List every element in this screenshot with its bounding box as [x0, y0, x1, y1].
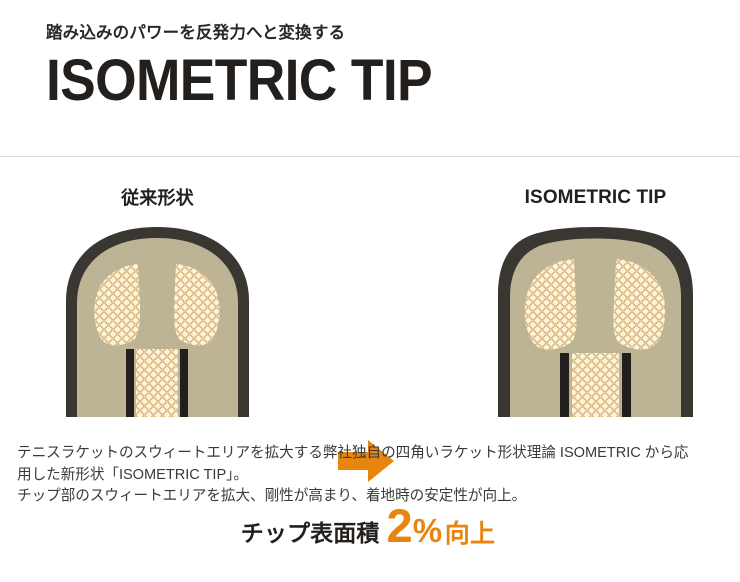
isometric-tip-outsole-illustration — [488, 217, 703, 422]
gain-label: チップ表面積 — [241, 514, 380, 548]
figure-isometric-tip: ISOMETRIC TIP — [488, 185, 703, 422]
page-title: ISOMETRIC TIP — [46, 50, 432, 112]
figure-isometric-tip-label: ISOMETRIC TIP — [488, 185, 703, 211]
comparison-figure-band: 従来形状 — [0, 157, 740, 425]
header-subtitle: 踏み込みのパワーを反発力へと変換する — [46, 19, 345, 43]
gain-suffix: 向上 — [445, 514, 496, 550]
gain-percent-sign: % — [413, 512, 442, 550]
description-line-1: テニスラケットのスウィートエリアを拡大する弊社独自の四角いラケット形状理論 IS… — [17, 443, 729, 465]
gain-statement: チップ表面積 2 % 向上 — [232, 502, 504, 550]
gain-number: 2 — [386, 502, 411, 549]
description-line-3: チップ部のスウィートエリアを拡大、剛性が高まり、着地時の安定性が向上。 — [17, 486, 729, 508]
figure-conventional-label: 従来形状 — [50, 185, 265, 211]
description-block: テニスラケットのスウィートエリアを拡大する弊社独自の四角いラケット形状理論 IS… — [17, 443, 729, 508]
isometric-tip-infographic: 踏み込みのパワーを反発力へと変換する ISOMETRIC TIP 従来形状 — [0, 0, 740, 550]
description-line-2: 用した新形状「ISOMETRIC TIP」。 — [17, 465, 729, 487]
header-section: 踏み込みのパワーを反発力へと変換する ISOMETRIC TIP — [0, 0, 740, 157]
